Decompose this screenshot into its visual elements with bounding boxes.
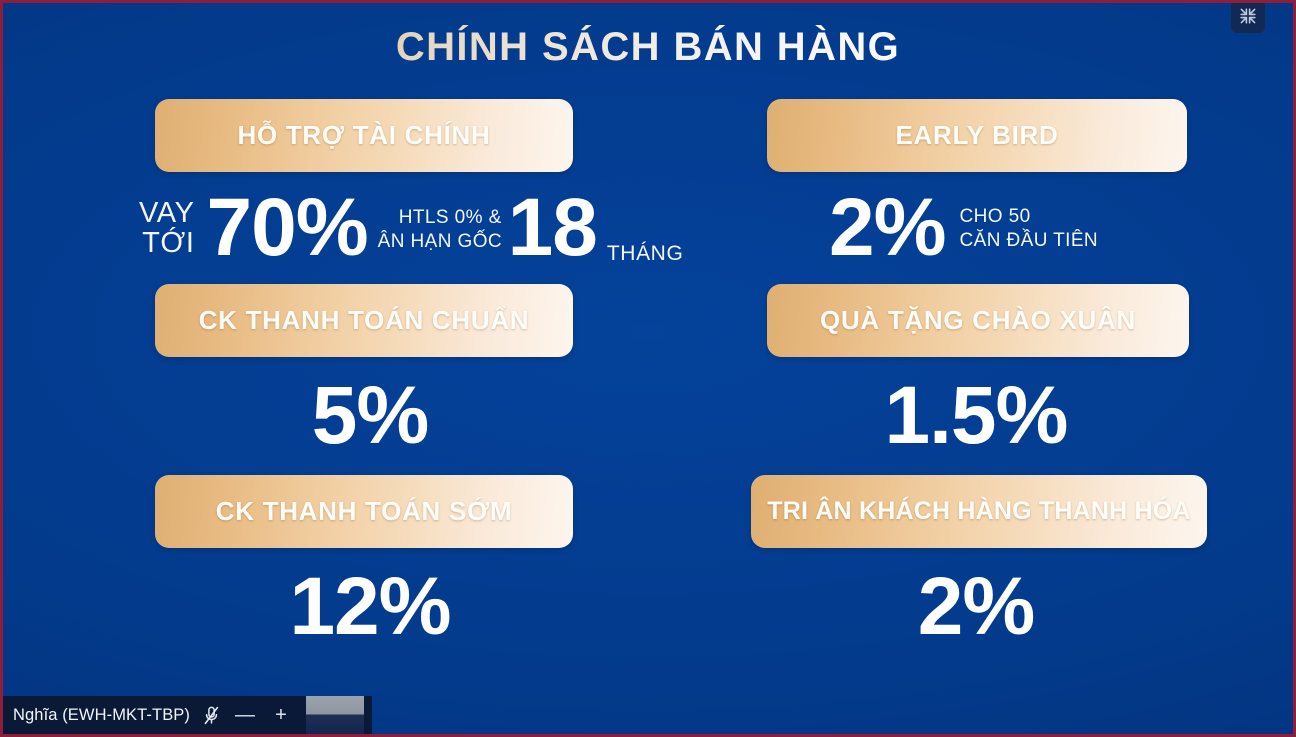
minimize-button[interactable]: — (232, 705, 258, 725)
policy-value-row-financial-support: VAY TỚI 70% HTLS 0% & ÂN HẠN GỐC 18 THÁN… (135, 172, 605, 284)
loan-months-value: 18 (508, 189, 597, 267)
loan-note-line2: ÂN HẠN GỐC (378, 230, 502, 254)
early-bird-note: CHO 50 CĂN ĐẦU TIÊN (960, 203, 1099, 253)
loan-note-line1: HTLS 0% & (378, 206, 502, 230)
policy-heading-label: EARLY BIRD (895, 120, 1058, 151)
policy-heading-label: HỖ TRỢ TÀI CHÍNH (238, 120, 491, 151)
presentation-slide: CHÍNH SÁCH BÁN HÀNG HỖ TRỢ TÀI CHÍNH VAY… (3, 3, 1293, 734)
spring-gift-value: 1.5% (885, 377, 1068, 455)
policy-heading-pill-financial-support[interactable]: HỖ TRỢ TÀI CHÍNH (155, 99, 573, 172)
standard-discount-value: 5% (312, 377, 429, 455)
early-bird-note-line2: CĂN ĐẦU TIÊN (960, 229, 1099, 253)
loan-months-unit: THÁNG (607, 242, 684, 284)
loan-kicker-line1: VAY (139, 198, 195, 228)
expand-button[interactable]: + (268, 705, 294, 725)
policy-block-early-payment-discount: CK THANH TOÁN SỚM 12% (135, 475, 605, 666)
loan-kicker-line2: TỚI (139, 228, 195, 258)
microphone-muted-icon[interactable] (200, 704, 222, 726)
participant-name: Nghĩa (EWH-MKT-TBP) (13, 706, 190, 725)
shared-screen-frame: CHÍNH SÁCH BÁN HÀNG HỖ TRỢ TÀI CHÍNH VAY… (0, 0, 1296, 737)
policy-heading-pill-early-bird[interactable]: EARLY BIRD (767, 99, 1187, 172)
exit-fullscreen-icon (1239, 7, 1257, 25)
early-bird-value: 2% (829, 189, 946, 267)
policy-heading-label: TRI ÂN KHÁCH HÀNG THANH HÓA (767, 497, 1190, 526)
policy-block-standard-payment-discount: CK THANH TOÁN CHUẨN 5% (135, 284, 605, 475)
policy-value-row-early-payment-discount: 12% (135, 548, 605, 666)
policy-column-right: EARLY BIRD 2% CHO 50 CĂN ĐẦU TIÊN QUÀ TẶ… (741, 99, 1211, 666)
early-payment-discount-value: 12% (289, 568, 450, 646)
policy-value-row-early-bird: 2% CHO 50 CĂN ĐẦU TIÊN (741, 172, 1211, 284)
early-bird-note-line1: CHO 50 (960, 205, 1099, 229)
policy-heading-pill-spring-gift[interactable]: QUÀ TẶNG CHÀO XUÂN (767, 284, 1189, 357)
meeting-mini-bar: Nghĩa (EWH-MKT-TBP) — + (3, 696, 372, 734)
policy-value-row-standard-payment-discount: 5% (135, 357, 605, 475)
policy-block-thanh-hoa-loyalty: TRI ÂN KHÁCH HÀNG THANH HÓA 2% (741, 475, 1211, 666)
window-thumbnail-stub[interactable] (306, 696, 364, 734)
slide-title: CHÍNH SÁCH BÁN HÀNG (3, 25, 1293, 69)
policy-block-spring-gift: QUÀ TẶNG CHÀO XUÂN 1.5% (741, 284, 1211, 475)
policy-heading-label: CK THANH TOÁN SỚM (216, 496, 512, 527)
policy-value-row-spring-gift: 1.5% (741, 357, 1211, 475)
loan-note: HTLS 0% & ÂN HẠN GỐC (378, 202, 502, 254)
policy-block-early-bird: EARLY BIRD 2% CHO 50 CĂN ĐẦU TIÊN (741, 99, 1211, 284)
loan-percent-value: 70% (207, 189, 368, 267)
policy-heading-label: CK THANH TOÁN CHUẨN (199, 305, 530, 336)
policy-heading-pill-standard-payment-discount[interactable]: CK THANH TOÁN CHUẨN (155, 284, 573, 357)
policy-heading-pill-early-payment-discount[interactable]: CK THANH TOÁN SỚM (155, 475, 573, 548)
policy-column-left: HỖ TRỢ TÀI CHÍNH VAY TỚI 70% HTLS 0% & Â… (135, 99, 605, 666)
policy-value-row-thanh-hoa-loyalty: 2% (741, 548, 1211, 666)
thanh-hoa-loyalty-value: 2% (918, 568, 1035, 646)
policy-block-financial-support: HỖ TRỢ TÀI CHÍNH VAY TỚI 70% HTLS 0% & Â… (135, 99, 605, 284)
policy-heading-label: QUÀ TẶNG CHÀO XUÂN (820, 305, 1136, 336)
loan-kicker: VAY TỚI (139, 198, 195, 259)
policy-heading-pill-thanh-hoa-loyalty[interactable]: TRI ÂN KHÁCH HÀNG THANH HÓA (751, 475, 1207, 548)
